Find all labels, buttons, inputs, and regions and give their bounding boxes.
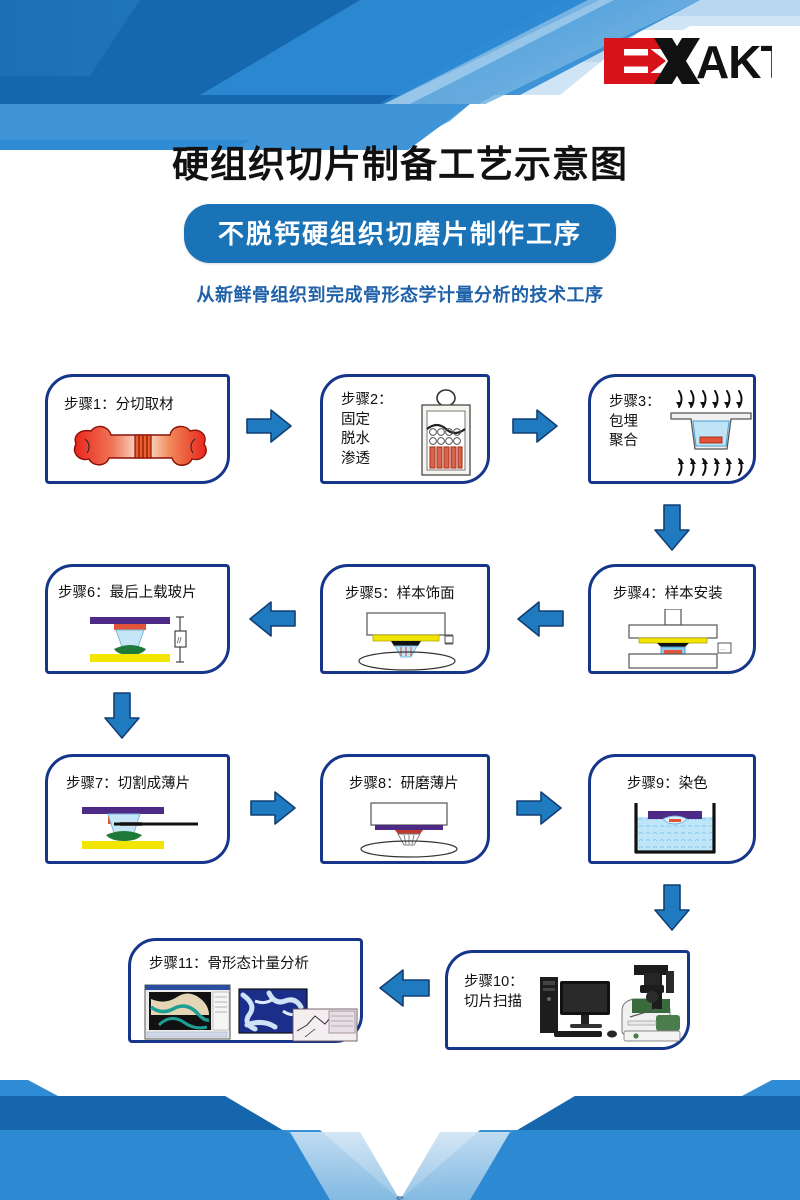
arrow-step-9-to-10 <box>653 884 691 937</box>
arrow-step-1-to-2 <box>246 408 292 449</box>
arrow-down-icon <box>653 884 691 932</box>
svg-text://: // <box>177 636 182 645</box>
arrow-right-icon <box>246 408 292 444</box>
step-4-label: 步骤4：样本安装 <box>613 585 723 605</box>
step-3-label: 步骤3： 包埋 聚合 <box>609 393 661 452</box>
arrow-down-icon <box>103 692 141 740</box>
step-card-11[interactable]: 步骤11：骨形态计量分析 <box>128 938 363 1043</box>
step-card-6[interactable]: 步骤6：最后上载玻片 // <box>45 564 230 674</box>
step-card-3[interactable]: 步骤3： 包埋 聚合 <box>588 374 756 484</box>
arrow-left-icon <box>248 600 296 638</box>
step-card-7[interactable]: 步骤7：切割成薄片 <box>45 754 230 864</box>
analysis-screens-icon <box>143 981 358 1048</box>
arrow-step-4-to-5 <box>516 600 564 643</box>
step-11-label: 步骤11：骨形态计量分析 <box>149 955 309 975</box>
arrow-step-3-to-4 <box>653 504 691 557</box>
arrow-step-8-to-9 <box>516 790 562 831</box>
step-9-label: 步骤9：染色 <box>627 775 708 795</box>
step-card-10[interactable]: 步骤10： 切片扫描 <box>445 950 690 1050</box>
stain-tank-icon <box>625 801 729 864</box>
fixation-jar-icon <box>415 389 477 484</box>
arrow-step-2-to-3 <box>512 408 558 449</box>
embedding-tray-icon <box>669 387 753 484</box>
step-5-label: 步骤5：样本饰面 <box>345 585 455 605</box>
step-card-8[interactable]: 步骤8：研磨薄片 <box>320 754 490 864</box>
step-6-label: 步骤6：最后上载玻片 <box>58 584 197 604</box>
arrow-step-7-to-8 <box>250 790 296 831</box>
bone-icon <box>73 423 208 483</box>
step-card-2[interactable]: 步骤2： 固定 脱水 渗透 <box>320 374 490 484</box>
step-8-label: 步骤8：研磨薄片 <box>349 775 459 795</box>
step-1-label: 步骤1：分切取材 <box>64 396 174 416</box>
grinder-face-icon <box>345 611 473 676</box>
arrow-right-icon <box>516 790 562 826</box>
svg-text:···: ··· <box>720 647 726 653</box>
arrow-step-6-to-7 <box>103 692 141 745</box>
arrow-left-icon <box>378 968 430 1008</box>
arrow-step-10-to-11 <box>378 968 430 1013</box>
mounting-press-icon: ··· <box>613 609 737 676</box>
arrow-right-icon <box>250 790 296 826</box>
arrow-down-icon <box>653 504 691 552</box>
step-7-label: 步骤7：切割成薄片 <box>66 775 190 795</box>
step-card-9[interactable]: 步骤9：染色 <box>588 754 756 864</box>
arrow-right-icon <box>512 408 558 444</box>
step-2-label: 步骤2： 固定 脱水 渗透 <box>341 391 393 469</box>
step-10-label: 步骤10： 切片扫描 <box>464 973 524 1012</box>
step-card-1[interactable]: 步骤1：分切取材 <box>45 374 230 484</box>
arrow-left-icon <box>516 600 564 638</box>
step-card-5[interactable]: 步骤5：样本饰面 <box>320 564 490 674</box>
step-card-4[interactable]: 步骤4：样本安装 ··· <box>588 564 756 674</box>
arrow-step-5-to-6 <box>248 600 296 643</box>
grinder-thin-icon <box>347 801 471 864</box>
poster-root: AKT EXAKT 硬组织切片制备工艺示意图 不脱钙硬组织切磨片制作工序 从新鲜… <box>0 0 800 1200</box>
slide-bonding-icon: // <box>76 611 206 676</box>
scanner-pc-icon <box>536 959 688 1054</box>
saw-cut-icon <box>70 801 210 864</box>
process-flow: 步骤1：分切取材 <box>0 0 800 1200</box>
